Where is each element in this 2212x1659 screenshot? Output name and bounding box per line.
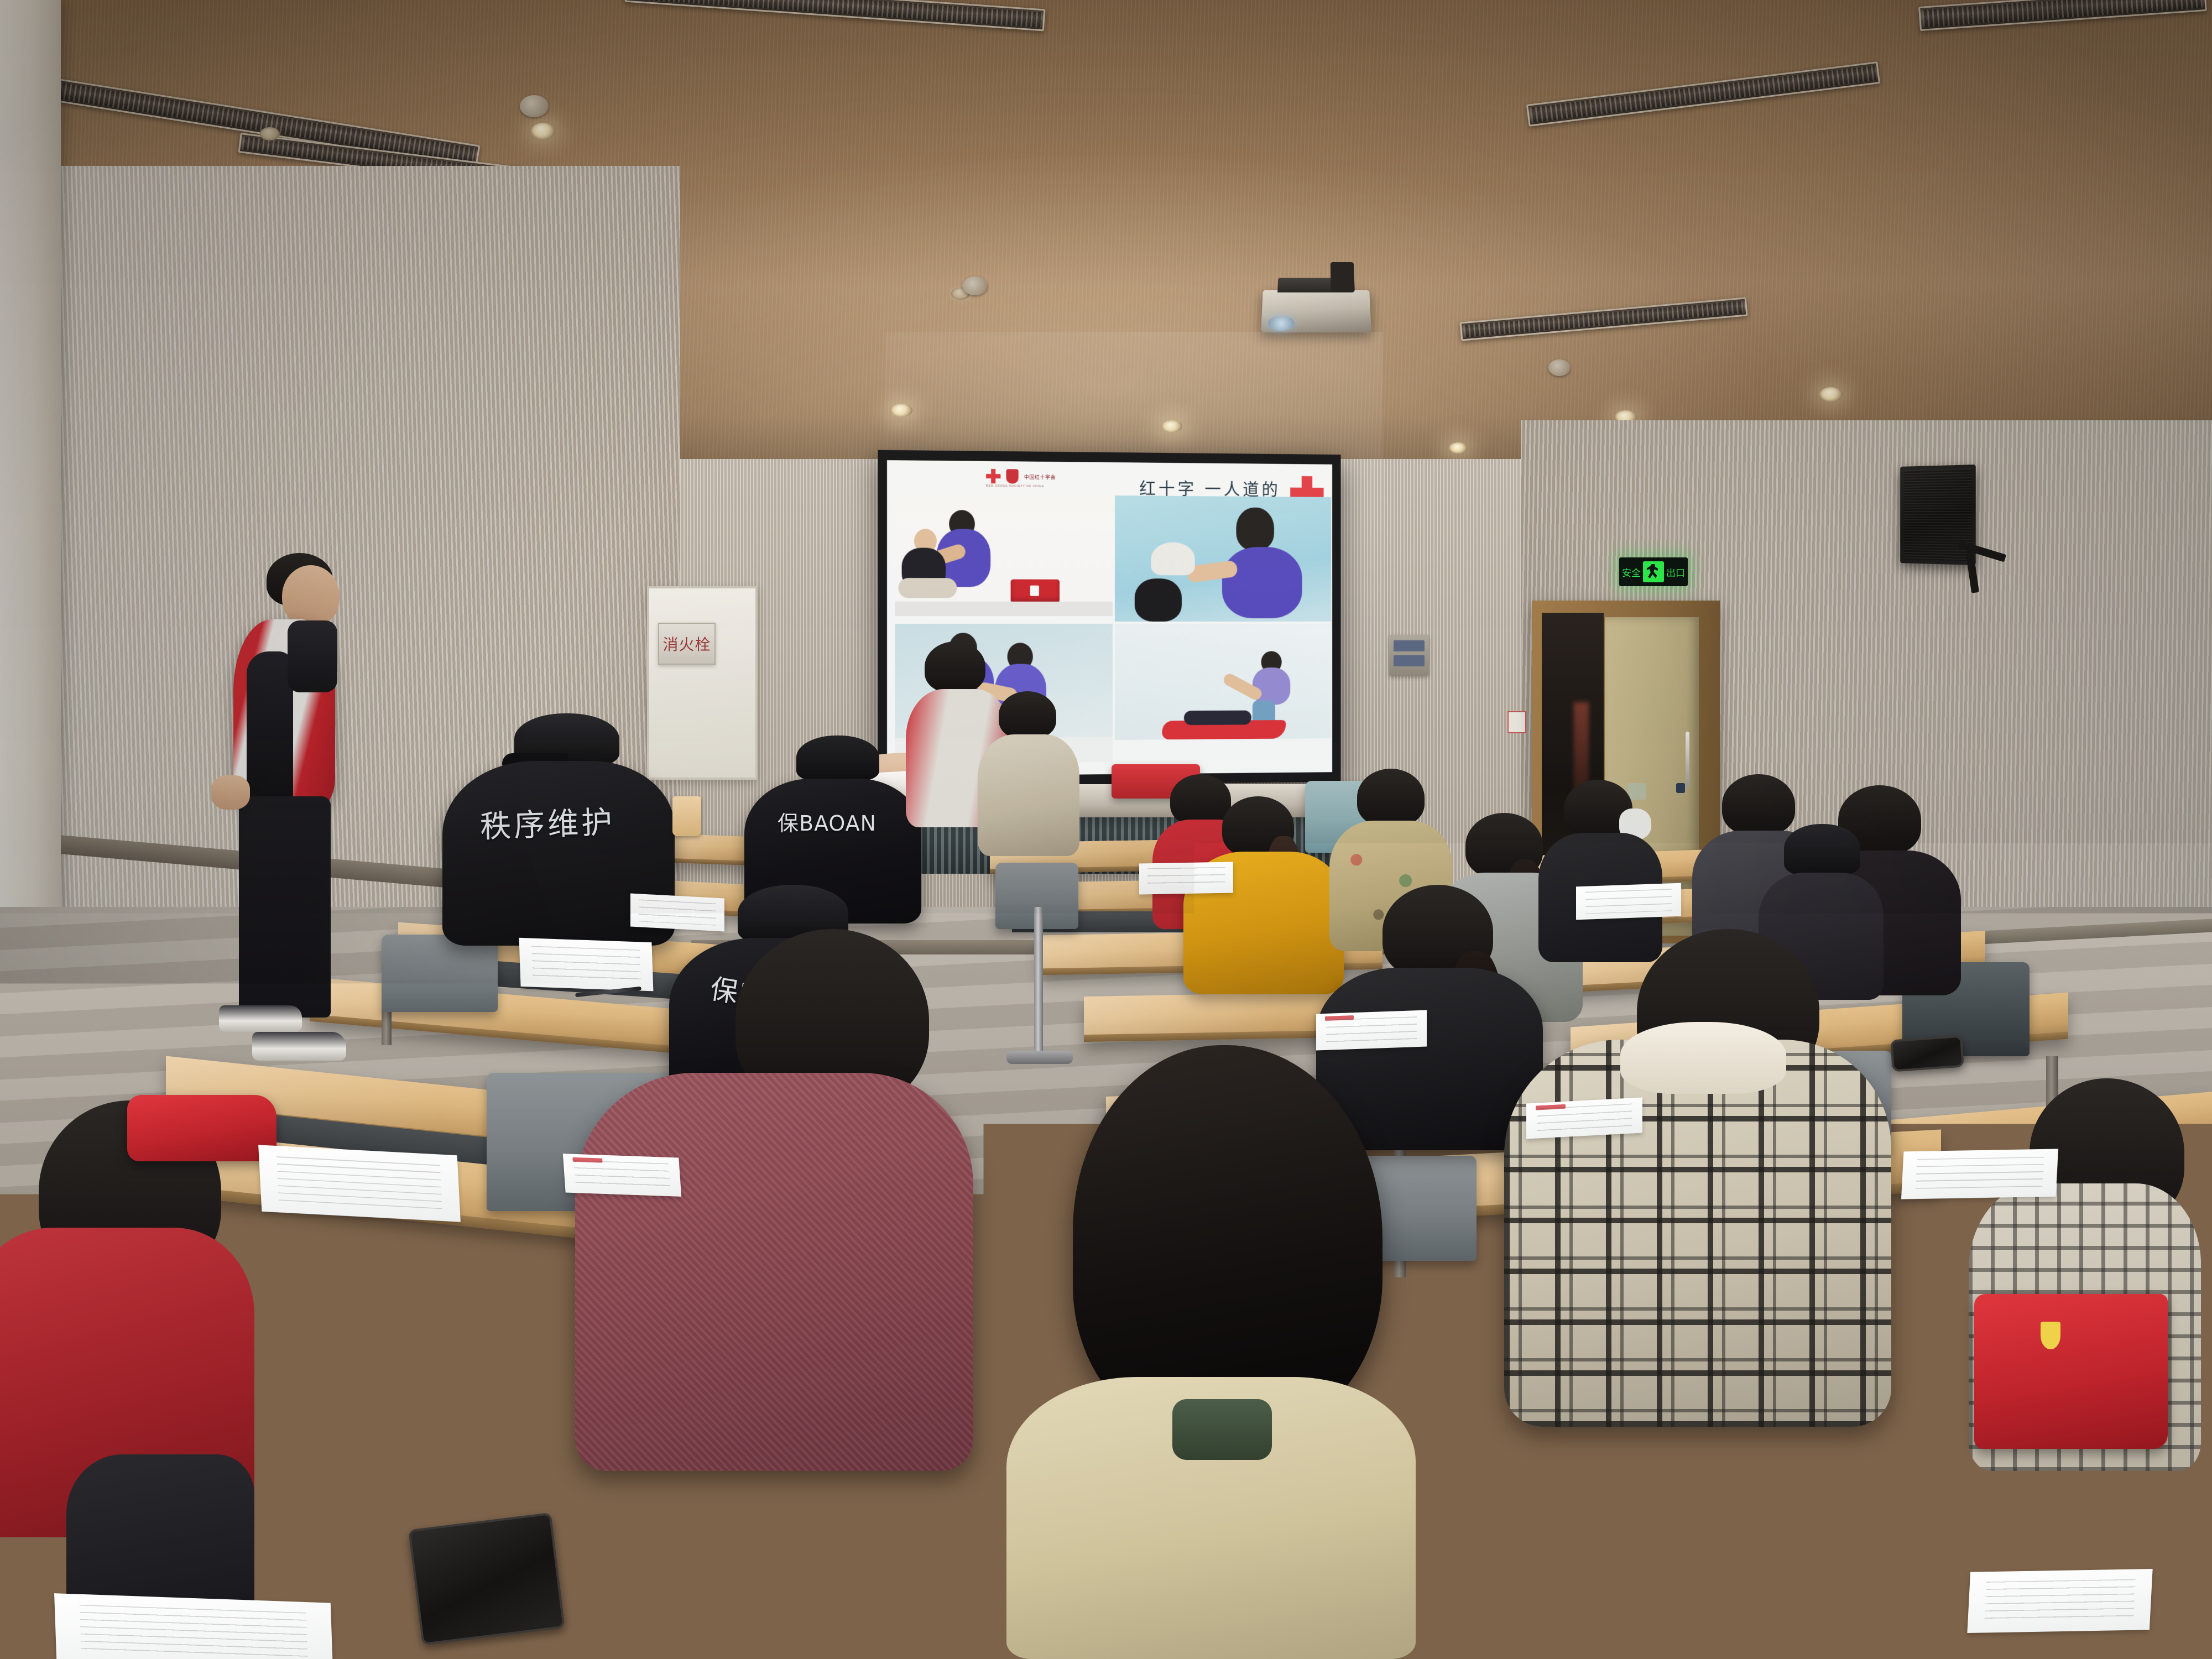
ceiling-downlight (531, 123, 555, 139)
logo-wordmark: 中国红十字会 (1024, 473, 1056, 481)
handout-paper[interactable] (1316, 1010, 1427, 1051)
attendee-foreground-center (1006, 1045, 1427, 1659)
attendee-sweater-texture (575, 1073, 973, 1471)
attendee-plaid-coat (1504, 929, 1902, 1427)
red-jacket-on-chair (1974, 1294, 2168, 1449)
guard-jacket-label: 保BAOAN (778, 806, 877, 837)
ceiling-downlight (1449, 442, 1468, 453)
handout-paper[interactable] (630, 894, 724, 932)
door-handle[interactable] (1686, 732, 1689, 787)
attendee-foreground-left (0, 1100, 276, 1659)
handout-paper[interactable] (519, 938, 654, 992)
slide-photo-bottom-right (1115, 624, 1331, 762)
attendee-jacket (978, 734, 1079, 856)
smartphone[interactable] (1890, 1035, 1964, 1072)
paper-cup[interactable] (672, 796, 701, 836)
instructor-shoe (219, 1005, 302, 1032)
attendee-fur-collar (1620, 1022, 1786, 1094)
handout-paper[interactable] (1901, 1149, 2058, 1199)
emergency-exit-sign: 安全 出口 (1619, 557, 1688, 586)
exit-sign-right-text: 出口 (1666, 565, 1685, 579)
equipment-stand-base (1006, 1051, 1073, 1064)
fire-equipment-marker (1507, 711, 1526, 733)
attendee-cream-jacket (973, 691, 1084, 857)
handout-paper[interactable] (1526, 1097, 1642, 1139)
ceiling-projector (1261, 290, 1371, 332)
handout-paper[interactable] (1967, 1569, 2152, 1633)
port-slot-upper (1394, 640, 1425, 651)
port-slot-lower (1394, 655, 1425, 666)
guard-label-cn: 保 (778, 811, 799, 836)
handout-paper[interactable] (1139, 862, 1233, 895)
instructor (221, 553, 365, 1073)
red-cloth-bag (127, 1095, 276, 1161)
red-cross-society-logo: 中国红十字会 (986, 469, 1056, 484)
projector-lens (1267, 316, 1294, 331)
attendee-plum-sweater (575, 929, 984, 1471)
attendee-hair (1073, 1045, 1383, 1432)
fire-hydrant-sign: 消火栓 (658, 623, 716, 665)
equipment-stand (1034, 907, 1043, 1062)
slide-photo-top-left (895, 494, 1113, 616)
ceiling-downlight (1819, 387, 1843, 401)
logo-subtext: RED CROSS SOCIETY OF CHINA (986, 484, 1044, 488)
society-emblem-icon (1006, 469, 1018, 483)
smoke-detector (1548, 359, 1571, 376)
instructor-sleeve (247, 651, 293, 806)
red-cross-icon (986, 469, 1000, 483)
instructor-collar (288, 620, 337, 692)
ceiling-downlight (1161, 420, 1182, 432)
bag-foreground (1449, 1543, 1637, 1659)
chair[interactable] (382, 935, 498, 1012)
attendee-collar (1172, 1399, 1272, 1460)
attendee-hair (1357, 769, 1425, 826)
attendee-plaid-jacket (1504, 1040, 1891, 1427)
handout-paper[interactable] (54, 1593, 333, 1659)
attendee-hair (999, 691, 1056, 739)
guard-cap (796, 735, 879, 781)
instructor-shoe (252, 1032, 346, 1061)
wall-av-port-plate[interactable] (1389, 635, 1429, 676)
attendee-cap (1784, 824, 1860, 875)
red-jacket-badge (2041, 1322, 2060, 1349)
instructor-hand (211, 775, 250, 810)
ceiling-downlight (260, 127, 280, 140)
guard-jacket-label: 秩序维护 (479, 797, 616, 847)
smoke-detector (962, 276, 988, 295)
smartphone[interactable] (408, 1512, 565, 1645)
smoke-detector (520, 95, 549, 117)
running-man-exit-icon (1643, 561, 1664, 582)
guard-label-en: BAOAN (799, 811, 877, 836)
classroom-scene: 消火栓 安全 出口 中国红十字会 (0, 0, 2212, 1659)
attendee-hair (925, 641, 985, 692)
exit-sign-left-text: 安全 (1622, 565, 1641, 579)
handout-paper[interactable] (1576, 883, 1681, 920)
slide-photo-top-right (1115, 495, 1331, 622)
door-lock-icon[interactable] (1676, 783, 1685, 793)
handout-paper[interactable] (258, 1145, 461, 1222)
handout-paper[interactable] (563, 1154, 681, 1197)
instructor-trousers (239, 796, 331, 1018)
instructor-head (282, 565, 340, 627)
ceiling-downlight (890, 404, 912, 417)
